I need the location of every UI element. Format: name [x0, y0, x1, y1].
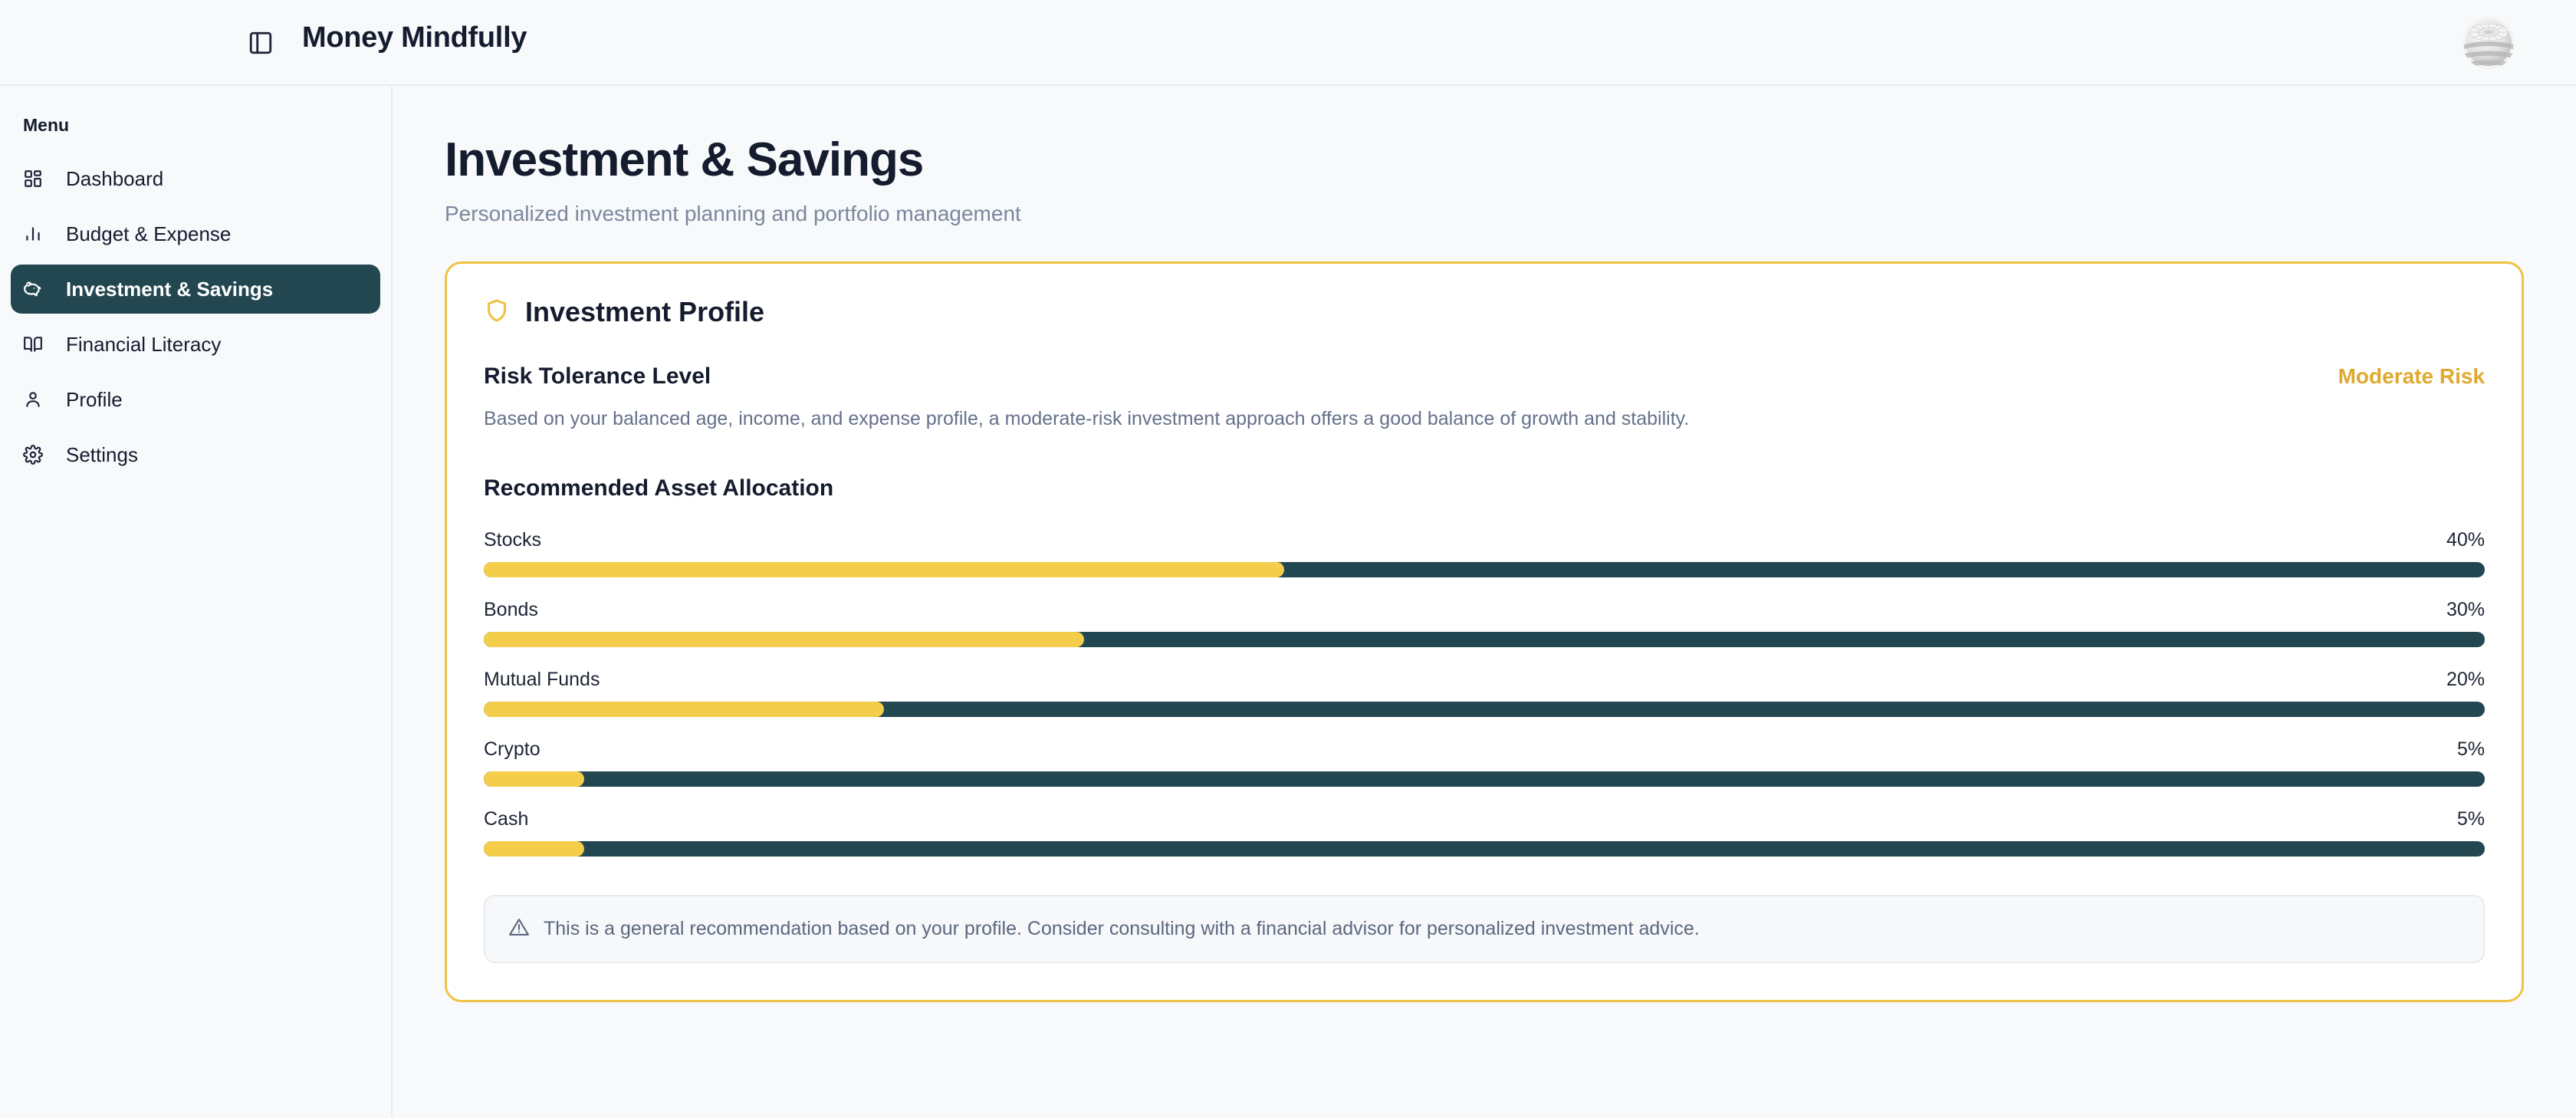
allocation-progress-track: [484, 771, 2485, 787]
allocation-list: Stocks 40% Bonds 30% Mutual Funds: [484, 529, 2485, 857]
sidebar-item-dashboard[interactable]: Dashboard: [11, 154, 380, 203]
allocation-value: 5%: [2457, 738, 2485, 761]
allocation-label: Bonds: [484, 599, 538, 621]
sidebar-section-label: Menu: [23, 115, 391, 136]
sidebar-item-label: Profile: [66, 388, 123, 412]
allocation-label: Cash: [484, 808, 528, 830]
disclaimer-text: This is a general recommendation based o…: [544, 918, 1700, 940]
top-header: Money Mindfully: [0, 0, 2576, 86]
allocation-row: Mutual Funds 20%: [484, 669, 2485, 717]
allocation-row: Crypto 5%: [484, 738, 2485, 787]
allocation-progress-track: [484, 702, 2485, 717]
allocation-progress-fill: [484, 632, 1084, 647]
sidebar-item-profile[interactable]: Profile: [11, 375, 380, 424]
sidebar-item-settings[interactable]: Settings: [11, 430, 380, 479]
user-avatar-image: [2463, 17, 2515, 69]
sidebar-item-label: Dashboard: [66, 167, 163, 191]
sidebar-item-label: Settings: [66, 443, 138, 467]
card-title: Investment Profile: [525, 296, 764, 328]
sidebar: Menu Dashboard Budget & Expense: [0, 86, 393, 1118]
panel-toggle-icon: [248, 30, 274, 60]
disclaimer-notice: This is a general recommendation based o…: [484, 895, 2485, 963]
main-content: Investment & Savings Personalized invest…: [393, 86, 2576, 1118]
risk-tolerance-heading: Risk Tolerance Level: [484, 363, 711, 390]
allocation-progress-fill: [484, 702, 884, 717]
allocation-progress-track: [484, 562, 2485, 577]
allocation-value: 30%: [2446, 599, 2485, 621]
risk-description: Based on your balanced age, income, and …: [484, 406, 2485, 432]
shield-icon: [484, 298, 510, 327]
risk-tolerance-row: Risk Tolerance Level Moderate Risk: [484, 363, 2485, 390]
allocation-row: Bonds 30%: [484, 599, 2485, 647]
allocation-progress-fill: [484, 562, 1284, 577]
user-icon: [23, 390, 54, 409]
sidebar-item-label: Budget & Expense: [66, 222, 231, 246]
card-header: Investment Profile: [484, 296, 2485, 328]
sidebar-item-financial-literacy[interactable]: Financial Literacy: [11, 320, 380, 369]
allocation-progress-track: [484, 841, 2485, 857]
avatar[interactable]: [2463, 17, 2515, 69]
allocation-label: Mutual Funds: [484, 669, 600, 691]
allocation-label: Crypto: [484, 738, 540, 761]
page-subtitle: Personalized investment planning and por…: [445, 202, 2524, 226]
allocation-progress-track: [484, 632, 2485, 647]
gear-icon: [23, 445, 54, 465]
open-book-icon: [23, 334, 54, 354]
allocation-value: 20%: [2446, 669, 2485, 691]
piggy-bank-icon: [23, 279, 54, 299]
allocation-row: Cash 5%: [484, 808, 2485, 857]
allocation-progress-fill: [484, 841, 584, 857]
brand-title: Money Mindfully: [302, 21, 527, 54]
sidebar-item-budget-expense[interactable]: Budget & Expense: [11, 209, 380, 258]
allocation-heading: Recommended Asset Allocation: [484, 475, 2485, 501]
allocation-label: Stocks: [484, 529, 541, 551]
allocation-value: 40%: [2446, 529, 2485, 551]
investment-profile-card: Investment Profile Risk Tolerance Level …: [445, 261, 2524, 1002]
risk-level-badge: Moderate Risk: [2338, 364, 2485, 389]
warning-triangle-icon: [508, 916, 530, 942]
allocation-value: 5%: [2457, 808, 2485, 830]
sidebar-toggle-button[interactable]: [244, 28, 278, 61]
grid-icon: [23, 169, 54, 189]
page-title: Investment & Savings: [445, 135, 2524, 185]
sidebar-item-label: Financial Literacy: [66, 333, 221, 357]
sidebar-item-label: Investment & Savings: [66, 278, 273, 301]
bar-chart-icon: [23, 224, 54, 244]
allocation-row: Stocks 40%: [484, 529, 2485, 577]
sidebar-item-investment-savings[interactable]: Investment & Savings: [11, 265, 380, 314]
allocation-progress-fill: [484, 771, 584, 787]
